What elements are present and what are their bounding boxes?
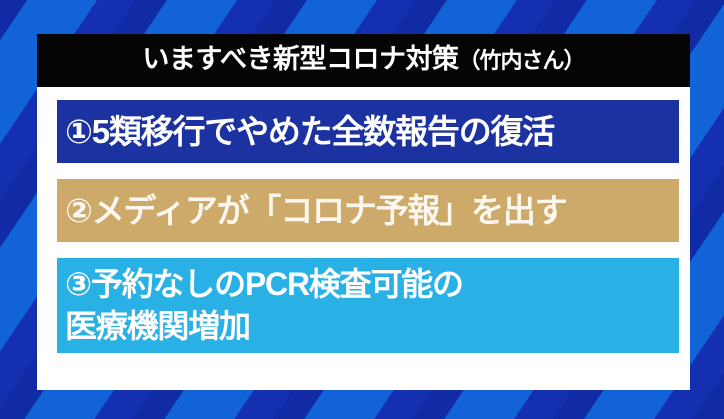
page-title-main: いますべき新型コロナ対策 <box>142 44 458 74</box>
page-title-subject: （竹内さん） <box>459 48 585 73</box>
page-title: いますべき新型コロナ対策（竹内さん） <box>142 46 584 73</box>
list-item-3-label: ③予約なしのPCR検査可能の 医療機関増加 <box>65 264 463 347</box>
points-list: ①5類移行でやめた全数報告の復活 ②メディアが「コロナ予報」を出す ③予約なしの… <box>37 87 690 390</box>
title-bar: いますべき新型コロナ対策（竹内さん） <box>37 34 690 87</box>
list-item-3: ③予約なしのPCR検査可能の 医療機関増加 <box>57 258 679 353</box>
content-card: いますべき新型コロナ対策（竹内さん） ①5類移行でやめた全数報告の復活 ②メディ… <box>37 34 690 390</box>
list-item-1: ①5類移行でやめた全数報告の復活 <box>57 100 679 163</box>
list-item-2: ②メディアが「コロナ予報」を出す <box>57 179 679 242</box>
list-item-2-label: ②メディアが「コロナ予報」を出す <box>65 194 566 228</box>
screenshot-root: いますべき新型コロナ対策（竹内さん） ①5類移行でやめた全数報告の復活 ②メディ… <box>0 0 724 419</box>
list-item-1-label: ①5類移行でやめた全数報告の復活 <box>65 115 554 149</box>
